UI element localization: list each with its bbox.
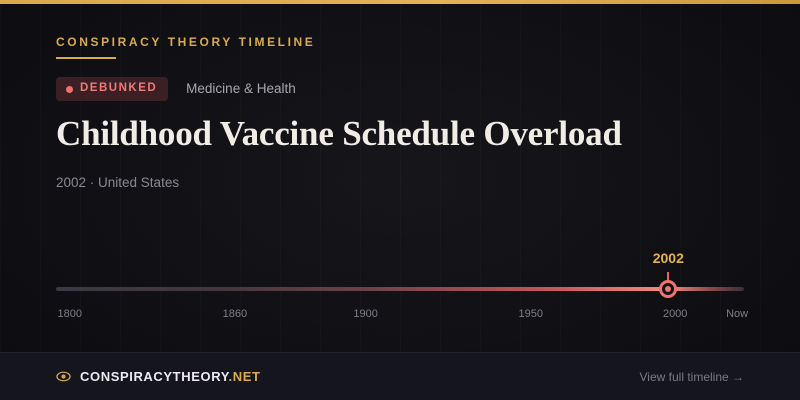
timeline-marker-core-icon [665,286,671,292]
timeline-tick-label: 1950 [518,307,542,321]
timeline-tick-label: 1900 [353,307,377,321]
view-full-timeline-link[interactable]: View full timeline → [640,371,744,383]
timeline-tick-label: Now [726,307,748,321]
timeline-chart[interactable]: 2002 18001860190019502000Now [56,250,744,330]
timeline-track[interactable] [56,287,744,291]
brand-name: CONSPIRACYTHEORY.NET [80,370,261,383]
brand-lockup[interactable]: CONSPIRACYTHEORY.NET [56,369,261,384]
kicker-underline [56,57,116,59]
brand-tld-text: .NET [229,369,261,384]
page-title: Childhood Vaccine Schedule Overload [56,113,744,155]
eye-icon [56,369,71,384]
timeline-marker-label: 2002 [653,250,684,266]
timeline-tick-label: 2000 [663,307,687,321]
meta-row: DEBUNKED Medicine & Health [56,77,744,101]
category-label: Medicine & Health [186,82,296,96]
timeline-marker[interactable] [659,280,677,298]
status-badge-label: DEBUNKED [80,83,157,95]
status-dot-icon [66,86,73,93]
timeline-tick-label: 1800 [58,307,82,321]
conspiracy-timeline-card: CONSPIRACY THEORY TIMELINE DEBUNKED Medi… [0,0,800,400]
subtitle-meta: 2002 · United States [56,175,744,191]
timeline-tick-label: 1860 [223,307,247,321]
brand-name-text: CONSPIRACYTHEORY [80,369,229,384]
card-footer: CONSPIRACYTHEORY.NET View full timeline … [0,352,800,400]
status-badge[interactable]: DEBUNKED [56,77,168,101]
kicker-label: CONSPIRACY THEORY TIMELINE [56,34,744,50]
